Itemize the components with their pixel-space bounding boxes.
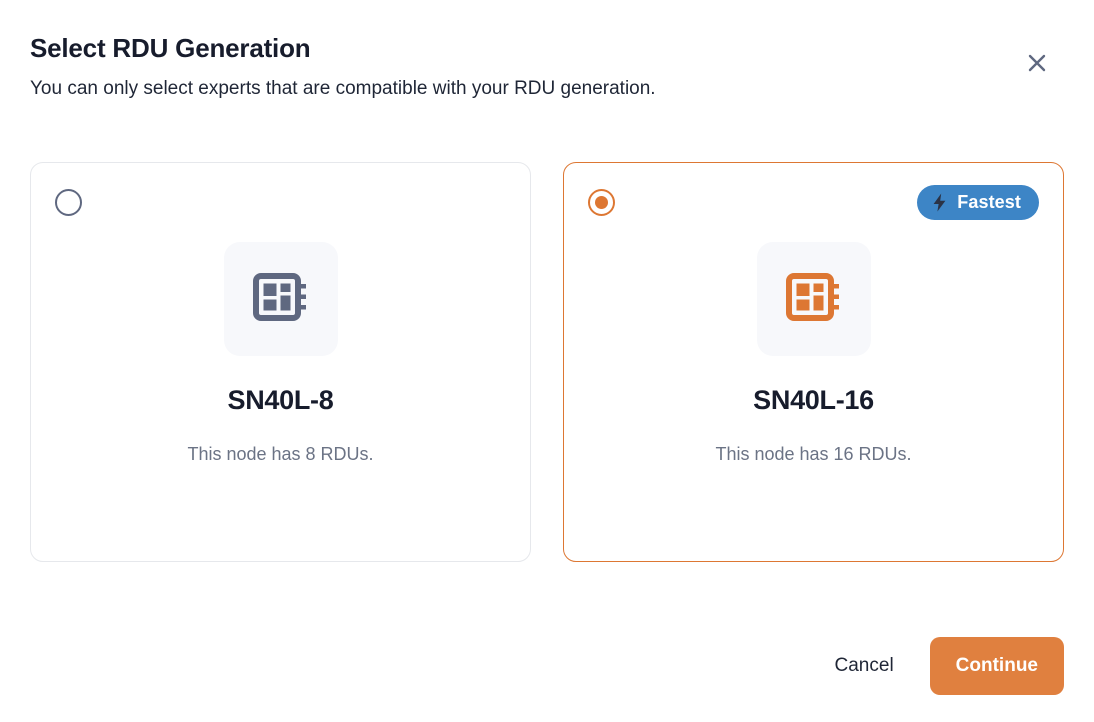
card-header: Fastest [588, 187, 1039, 217]
dialog-footer: Cancel Continue [817, 637, 1064, 695]
dialog-subtitle: You can only select experts that are com… [30, 76, 1064, 102]
chip-icon-tile [757, 242, 871, 356]
lightning-bolt-icon [931, 192, 948, 213]
radio-sn40l-16[interactable] [588, 189, 615, 216]
page-title: Select RDU Generation [30, 32, 1064, 64]
select-rdu-generation-dialog: Select RDU Generation You can only selec… [0, 0, 1094, 722]
option-description: This node has 8 RDUs. [187, 444, 373, 465]
option-card-sn40l-8[interactable]: SN40L-8 This node has 8 RDUs. [30, 162, 531, 562]
close-button[interactable] [1020, 46, 1054, 80]
chip-icon [783, 266, 845, 333]
status-badge-fastest: Fastest [917, 185, 1039, 220]
continue-button[interactable]: Continue [930, 637, 1064, 695]
chip-icon-tile [224, 242, 338, 356]
radio-dot [595, 196, 608, 209]
dialog-header: Select RDU Generation You can only selec… [30, 32, 1064, 102]
close-icon [1025, 51, 1049, 75]
option-card-sn40l-16[interactable]: Fastest SN40L-16 [563, 162, 1064, 562]
option-description: This node has 16 RDUs. [715, 444, 911, 465]
chip-icon [250, 266, 312, 333]
option-name: SN40L-16 [753, 385, 874, 416]
rdu-generation-options: SN40L-8 This node has 8 RDUs. Fastest [30, 162, 1064, 562]
card-header [55, 187, 506, 217]
option-name: SN40L-8 [228, 385, 334, 416]
cancel-button[interactable]: Cancel [817, 645, 912, 687]
badge-label: Fastest [957, 193, 1021, 211]
radio-sn40l-8[interactable] [55, 189, 82, 216]
